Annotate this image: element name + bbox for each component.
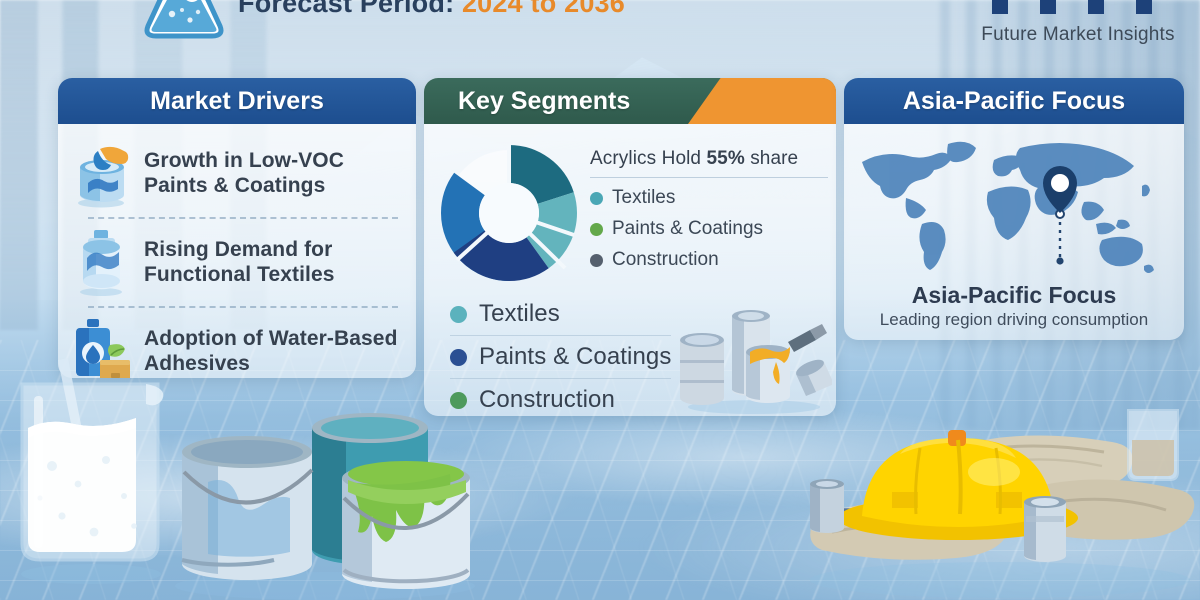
asia-pacific-panel: Asia-Pacific Focus [844,78,1184,340]
paint-cans-silver-teal-green [160,386,490,600]
driver-label: Adoption of Water-Based Adhesives [144,327,404,376]
legend-item[interactable]: Paints & Coatings [450,339,671,375]
spray-can-icon [70,228,136,298]
asia-pacific-title: Asia-Pacific Focus [844,87,1184,116]
beaker-white-emulsion [6,356,176,591]
fmi-logo-mark [978,0,1178,22]
fmi-logo-text: Future Market Insights [978,24,1178,46]
legend-swatch-icon [450,349,467,366]
key-segments-panel: Key Segments [424,78,836,416]
divider [450,335,671,336]
legend-swatch-icon [590,254,603,267]
legend-label: Textiles [479,300,560,328]
forecast-period: Forecast Period: 2024 to 2036 [238,0,625,19]
headline-value: 55% [706,148,744,169]
paint-cans-illustration [672,304,832,414]
headline-prefix: Acrylics Hold [590,148,706,169]
market-drivers-header: Market Drivers [58,78,416,124]
divider [88,306,398,308]
divider [590,177,828,178]
list-item[interactable]: Rising Demand for Functional Textiles [70,223,404,302]
key-segments-header: Key Segments [424,78,836,124]
key-segments-title: Key Segments [424,87,836,116]
legend-label: Construction [479,386,615,414]
legend-label: Textiles [612,187,675,209]
divider [450,378,671,379]
legend-label: Paints & Coatings [612,218,763,240]
forecast-label: Forecast Period: [238,0,454,18]
key-segments-body: Acrylics Hold 55% share Textiles Paints … [424,124,836,293]
legend-label: Construction [612,249,719,271]
legend-item[interactable]: Textiles [450,296,671,332]
world-map [844,128,1184,278]
hard-hat-cement-bags [780,400,1200,600]
asia-pacific-caption-title: Asia-Pacific Focus [844,282,1184,309]
legend-item[interactable]: Construction [590,249,828,271]
legend-swatch-icon [590,223,603,236]
header-strip: Forecast Period: 2024 to 2036 Future Mar… [0,0,1200,62]
fmi-logo: Future Market Insights [978,0,1178,46]
list-item[interactable]: Growth in Low-VOC Paints & Coatings [70,134,404,213]
paint-bucket-roller-icon [70,139,136,209]
segments-legend-small: Textiles Paints & Coatings Construction [590,187,828,271]
asia-pacific-caption-sub: Leading region driving consumption [844,310,1184,330]
segments-donut-chart [434,134,584,293]
legend-label: Paints & Coatings [479,343,671,371]
legend-item[interactable]: Textiles [590,187,828,209]
asia-pacific-header: Asia-Pacific Focus [844,78,1184,124]
segments-info: Acrylics Hold 55% share Textiles Paints … [590,134,828,293]
flask-icon [132,0,236,44]
forecast-years: 2024 to 2036 [462,0,625,18]
legend-item[interactable]: Paints & Coatings [590,218,828,240]
market-drivers-title: Market Drivers [58,87,416,116]
segments-headline: Acrylics Hold 55% share [590,148,828,170]
headline-suffix: share [745,148,798,169]
legend-swatch-icon [450,306,467,323]
driver-label: Growth in Low-VOC Paints & Coatings [144,149,404,198]
legend-swatch-icon [590,192,603,205]
market-drivers-panel: Market Drivers Growth in Low-VOC Paints … [58,78,416,378]
driver-label: Rising Demand for Functional Textiles [144,238,404,287]
market-drivers-list: Growth in Low-VOC Paints & Coatings Risi… [58,124,416,378]
divider [88,217,398,219]
asia-pacific-caption: Asia-Pacific Focus Leading region drivin… [844,278,1184,330]
